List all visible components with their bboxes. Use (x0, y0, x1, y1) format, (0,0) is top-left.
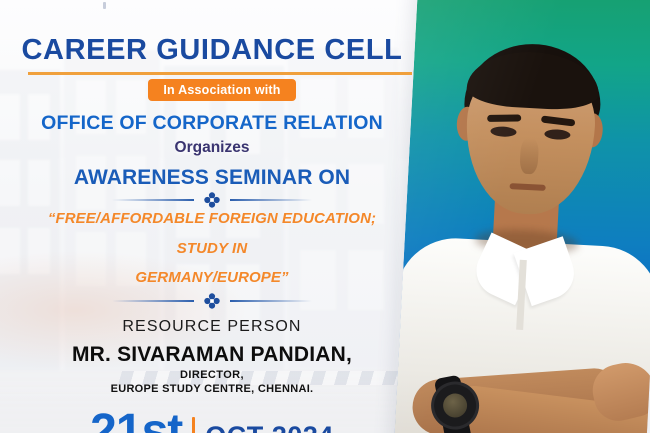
topic-line-2: STUDY IN (0, 240, 424, 257)
event-date: 21st OCT 2024 (0, 410, 424, 433)
resource-person-label: RESOURCE PERSON (0, 318, 424, 336)
organizes-label: Organizes (0, 139, 424, 157)
poster-text-column: CAREER GUIDANCE CELL In Association with… (0, 0, 424, 433)
speaker-portrait-image (394, 0, 650, 433)
topic-line-3: GERMANY/EUROPE” (0, 269, 424, 286)
office-heading: OFFICE OF CORPORATE RELATION (0, 112, 424, 135)
clover-ornament-icon (204, 192, 220, 208)
resource-person-name: MR. SIVARAMAN PANDIAN, (0, 343, 424, 367)
title-underline-rule (28, 72, 412, 75)
event-date-month-year: OCT 2024 (205, 414, 334, 433)
divider-top (112, 192, 312, 208)
page-title: CAREER GUIDANCE CELL (0, 34, 424, 67)
seminar-heading: AWARENESS SEMINAR ON (0, 166, 424, 190)
association-badge: In Association with (148, 79, 296, 101)
clover-ornament-icon (204, 293, 220, 309)
date-separator (192, 417, 195, 433)
topic-line-1: “FREE/AFFORDABLE FOREIGN EDUCATION; (0, 210, 424, 227)
event-poster: CAREER GUIDANCE CELL In Association with… (0, 0, 650, 433)
divider-bottom (112, 293, 312, 309)
resource-person-organisation: EUROPE STUDY CENTRE, CHENNAI. (0, 383, 424, 395)
resource-person-role: DIRECTOR, (0, 369, 424, 381)
event-date-day: 21st (90, 410, 182, 433)
